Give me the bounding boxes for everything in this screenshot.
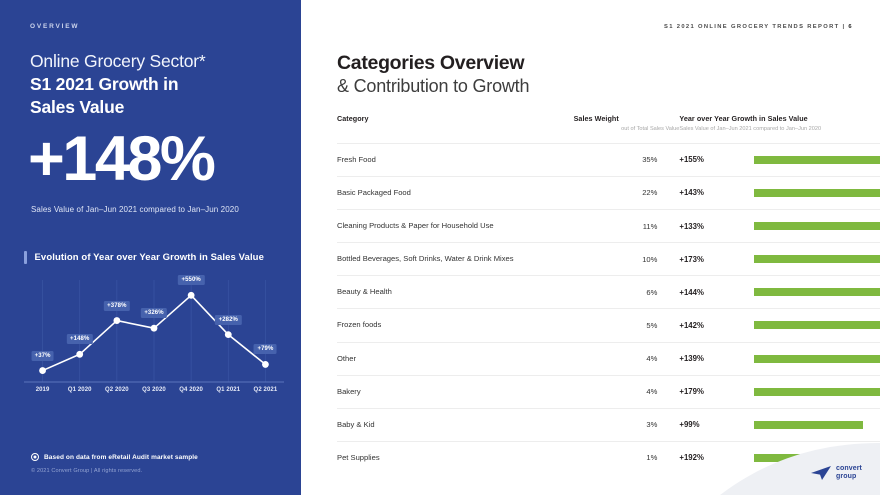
table-row: Fresh Food35%+155%52 percentage points [337, 143, 880, 176]
paper-plane-icon [810, 465, 832, 481]
chart-marker [113, 317, 120, 324]
growth-bar [754, 222, 880, 230]
chart-point-label: +79% [254, 344, 277, 354]
cell-category: Bakery [337, 386, 574, 398]
col-header-growth: Year over Year Growth in Sales Value Sal… [679, 114, 880, 143]
cell-sales-weight: 22% [574, 188, 680, 197]
headline-line-3: Sales Value [30, 96, 280, 119]
logo-text-line-1: convert [836, 465, 862, 473]
cell-growth: +139% [679, 354, 754, 363]
col-header-category: Category [337, 114, 574, 143]
line-chart-svg [24, 272, 284, 384]
table-row: Cleaning Products & Paper for Household … [337, 209, 880, 242]
cell-sales-weight: 5% [574, 321, 680, 330]
col-header-sales-weight-sub: out of Total Sales Value [574, 125, 680, 134]
cell-category: Basic Packaged Food [337, 187, 574, 199]
cell-sales-weight: 6% [574, 288, 680, 297]
chart-point-label: +37% [31, 351, 54, 361]
cell-category: Baby & Kid [337, 419, 574, 431]
info-dot-icon [31, 453, 39, 461]
col-header-sales-weight-label: Sales Weight [574, 114, 680, 123]
headline-line-1: Online Grocery Sector* [30, 50, 280, 73]
cell-category: Frozen foods [337, 319, 574, 331]
chart-x-tick-label: Q3 2020 [135, 387, 172, 393]
growth-bar [754, 255, 880, 263]
cell-growth: +99% [679, 420, 754, 429]
cell-growth: +142% [679, 321, 754, 330]
chart-x-tick-label: Q2 2021 [247, 387, 284, 393]
cell-growth: +143% [679, 188, 754, 197]
chart-title-wrap: Evolution of Year over Year Growth in Sa… [24, 251, 264, 264]
chart-x-tick-label: Q1 2020 [61, 387, 98, 393]
convert-group-logo: convert group [810, 465, 862, 481]
cell-sales-weight: 1% [574, 453, 680, 462]
right-panel: S1 2021 ONLINE GROCERY TRENDS REPORT | 6… [301, 0, 880, 495]
chart-marker [262, 361, 269, 368]
chart-marker [225, 331, 232, 338]
logo-text-line-2: group [836, 473, 862, 481]
chart-x-tick-label: Q2 2020 [98, 387, 135, 393]
big-number-stat: +148% [28, 128, 213, 191]
chart-point-label: +282% [215, 315, 241, 325]
categories-table-body: Fresh Food35%+155%52 percentage pointsBa… [337, 143, 880, 474]
col-header-sales-weight: Sales Weight out of Total Sales Value [574, 114, 680, 143]
table-row: Other4%+139%6 pp [337, 342, 880, 375]
table-row: Frozen foods5%+142%7 pp [337, 309, 880, 342]
growth-bar [754, 388, 880, 396]
cell-category: Bottled Beverages, Soft Drinks, Water & … [337, 253, 574, 265]
copyright-text: © 2021 Convert Group | All rights reserv… [31, 468, 142, 474]
col-header-growth-label: Year over Year Growth in Sales Value [679, 114, 880, 123]
col-header-category-label: Category [337, 114, 574, 123]
growth-bar [754, 288, 880, 296]
chart-point-label: +378% [104, 301, 130, 311]
chart-point-label: +550% [178, 275, 204, 285]
source-note: Based on data from eRetail Audit market … [31, 453, 198, 461]
cell-growth: +133% [679, 222, 754, 231]
growth-bar [754, 189, 880, 197]
cell-sales-weight: 3% [574, 420, 680, 429]
chart-x-tick-label: 2019 [24, 387, 61, 393]
page-subtitle: & Contribution to Growth [337, 76, 529, 97]
page-title: Categories Overview [337, 52, 524, 75]
headline-line-2: S1 2021 Growth in [30, 73, 280, 96]
chart-marker [76, 351, 83, 358]
chart-title: Evolution of Year over Year Growth in Sa… [35, 252, 264, 263]
table-row: Beauty & Health6%+144%9 pp [337, 276, 880, 309]
cell-sales-weight: 11% [574, 222, 680, 231]
cell-sales-weight: 4% [574, 354, 680, 363]
chart-x-axis-labels: 2019Q1 2020Q2 2020Q3 2020Q4 2020Q1 2021Q… [24, 387, 284, 393]
growth-bar [754, 355, 880, 363]
overview-label: OVERVIEW [30, 23, 79, 30]
categories-table: Category Sales Weight out of Total Sales… [337, 114, 880, 474]
chart-marker [188, 292, 195, 299]
big-number-caption: Sales Value of Jan–Jun 2021 compared to … [31, 205, 239, 214]
chart-x-tick-label: Q1 2021 [210, 387, 247, 393]
chart-marker [151, 325, 158, 332]
growth-bar [754, 156, 880, 164]
cell-category: Pet Supplies [337, 452, 574, 464]
chart-marker [39, 367, 46, 374]
headline-block: Online Grocery Sector* S1 2021 Growth in… [30, 50, 280, 119]
cell-growth: +144% [679, 288, 754, 297]
logo-text: convert group [836, 465, 862, 481]
cell-sales-weight: 10% [574, 255, 680, 264]
cell-growth: +155% [679, 155, 754, 164]
cell-growth: +173% [679, 255, 754, 264]
page-number: 6 [848, 24, 853, 30]
source-note-text: Based on data from eRetail Audit market … [44, 454, 198, 461]
chart-title-accent-bar [24, 251, 27, 264]
left-panel: OVERVIEW Online Grocery Sector* S1 2021 … [0, 0, 301, 495]
cell-growth: +179% [679, 387, 754, 396]
line-chart: +37%+148%+378%+326%+550%+282%+79% 2019Q1… [24, 272, 284, 402]
table-row: Basic Packaged Food22%+143%32 pp [337, 176, 880, 209]
cell-category: Fresh Food [337, 154, 574, 166]
table-row: Bottled Beverages, Soft Drinks, Water & … [337, 243, 880, 276]
cell-sales-weight: 4% [574, 387, 680, 396]
table-header-row: Category Sales Weight out of Total Sales… [337, 114, 880, 143]
chart-point-label: +148% [67, 334, 93, 344]
slide: OVERVIEW Online Grocery Sector* S1 2021 … [0, 0, 880, 495]
chart-point-label: +326% [141, 308, 167, 318]
report-kicker: S1 2021 ONLINE GROCERY TRENDS REPORT | 6 [664, 24, 853, 30]
table-row: Bakery4%+179%6 pp [337, 375, 880, 408]
growth-bar [754, 321, 880, 329]
cell-category: Other [337, 353, 574, 365]
cell-category: Beauty & Health [337, 286, 574, 298]
col-header-growth-sub: Sales Value of Jan–Jun 2021 compared to … [679, 125, 880, 134]
report-kicker-text: S1 2021 ONLINE GROCERY TRENDS REPORT | [664, 24, 848, 30]
growth-bar [754, 421, 863, 429]
cell-category: Cleaning Products & Paper for Household … [337, 220, 574, 232]
chart-x-tick-label: Q4 2020 [173, 387, 210, 393]
cell-sales-weight: 35% [574, 155, 680, 164]
